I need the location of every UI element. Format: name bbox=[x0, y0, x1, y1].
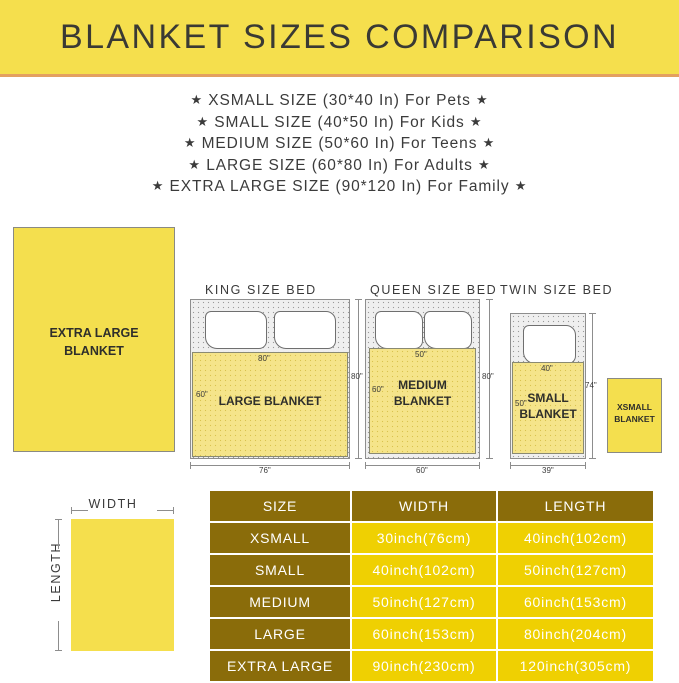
size-table: SIZE WIDTH LENGTH XSMALL 30inch(76cm) 40… bbox=[208, 489, 655, 683]
queen-bed-title: QUEEN SIZE BED bbox=[370, 283, 497, 297]
rule-tick bbox=[355, 299, 362, 300]
king-bed-height-label: 80" bbox=[351, 372, 363, 381]
table-row: XSMALL 30inch(76cm) 40inch(102cm) bbox=[210, 523, 653, 553]
medium-blanket-height-label: 60" bbox=[372, 385, 384, 394]
wl-length-label: LENGTH bbox=[49, 512, 63, 632]
pillow-icon bbox=[274, 311, 336, 349]
large-blanket-shape: LARGE BLANKET bbox=[192, 352, 348, 457]
cell-size: XSMALL bbox=[210, 523, 350, 553]
extra-large-blanket-label: EXTRA LARGE BLANKET bbox=[14, 324, 174, 360]
rule-tick bbox=[55, 519, 62, 520]
small-label-line2: BLANKET bbox=[519, 407, 576, 421]
medium-blanket-label: MEDIUM BLANKET bbox=[370, 377, 475, 409]
small-blanket-shape: SMALL BLANKET bbox=[512, 362, 584, 454]
twin-bed-height-label: 74" bbox=[585, 381, 597, 390]
rule-tick bbox=[349, 462, 350, 469]
table-row: SMALL 40inch(102cm) 50inch(127cm) bbox=[210, 555, 653, 585]
wl-length-rule-top bbox=[58, 519, 59, 549]
xl-label-line2: BLANKET bbox=[64, 344, 124, 358]
wl-rectangle-shape bbox=[71, 519, 174, 651]
queen-bed-height-label: 80" bbox=[482, 372, 494, 381]
king-bed-title: KING SIZE BED bbox=[205, 283, 317, 297]
twin-bed-title: TWIN SIZE BED bbox=[500, 283, 613, 297]
xsmall-blanket-label: XSMALL BLANKET bbox=[608, 401, 661, 425]
cell-length: 50inch(127cm) bbox=[498, 555, 653, 585]
xsmall-label-line2: BLANKET bbox=[614, 414, 655, 424]
rule-tick bbox=[589, 313, 596, 314]
rule-tick bbox=[479, 462, 480, 469]
cell-length: 60inch(153cm) bbox=[498, 587, 653, 617]
width-length-key: WIDTH LENGTH bbox=[38, 497, 188, 657]
column-header-width: WIDTH bbox=[352, 491, 496, 521]
cell-width: 40inch(102cm) bbox=[352, 555, 496, 585]
rule-tick bbox=[510, 462, 511, 469]
pillow-icon bbox=[205, 311, 267, 349]
extra-large-blanket-shape: EXTRA LARGE BLANKET bbox=[13, 227, 175, 452]
wl-width-rule-right bbox=[157, 510, 174, 511]
large-blanket-width-label: 80" bbox=[258, 354, 270, 363]
table-body: XSMALL 30inch(76cm) 40inch(102cm) SMALL … bbox=[210, 523, 653, 681]
rule-tick bbox=[173, 507, 174, 514]
rule-tick bbox=[190, 462, 191, 469]
xsmall-blanket-shape: XSMALL BLANKET bbox=[607, 378, 662, 453]
cell-length: 40inch(102cm) bbox=[498, 523, 653, 553]
medium-label-line1: MEDIUM bbox=[398, 378, 447, 392]
wl-width-label: WIDTH bbox=[38, 497, 188, 511]
cell-size: SMALL bbox=[210, 555, 350, 585]
small-label-line1: SMALL bbox=[527, 391, 568, 405]
rule-tick bbox=[585, 462, 586, 469]
rule-tick bbox=[486, 458, 493, 459]
twin-bed-width-label: 39" bbox=[542, 466, 554, 475]
medium-label-line2: BLANKET bbox=[394, 394, 451, 408]
queen-bed-width-label: 60" bbox=[416, 466, 428, 475]
table-row: MEDIUM 50inch(127cm) 60inch(153cm) bbox=[210, 587, 653, 617]
table-row: EXTRA LARGE 90inch(230cm) 120inch(305cm) bbox=[210, 651, 653, 681]
pillow-icon bbox=[523, 325, 576, 364]
table-head: SIZE WIDTH LENGTH bbox=[210, 491, 653, 521]
rule-tick bbox=[355, 458, 362, 459]
pillow-icon bbox=[375, 311, 423, 349]
xsmall-label-line1: XSMALL bbox=[617, 402, 652, 412]
medium-blanket-shape: MEDIUM BLANKET bbox=[369, 348, 476, 454]
rule-tick bbox=[486, 299, 493, 300]
cell-size: EXTRA LARGE bbox=[210, 651, 350, 681]
pillow-icon bbox=[424, 311, 472, 349]
column-header-length: LENGTH bbox=[498, 491, 653, 521]
table-row: LARGE 60inch(153cm) 80inch(204cm) bbox=[210, 619, 653, 649]
table-header-row: SIZE WIDTH LENGTH bbox=[210, 491, 653, 521]
small-blanket-height-label: 50" bbox=[515, 399, 527, 408]
large-blanket-label: LARGE BLANKET bbox=[193, 393, 347, 409]
cell-width: 50inch(127cm) bbox=[352, 587, 496, 617]
cell-length: 120inch(305cm) bbox=[498, 651, 653, 681]
cell-size: LARGE bbox=[210, 619, 350, 649]
small-blanket-width-label: 40" bbox=[541, 364, 553, 373]
rule-tick bbox=[365, 462, 366, 469]
cell-length: 80inch(204cm) bbox=[498, 619, 653, 649]
wl-width-rule-left bbox=[71, 510, 88, 511]
large-blanket-height-label: 60" bbox=[196, 390, 208, 399]
cell-width: 30inch(76cm) bbox=[352, 523, 496, 553]
medium-blanket-width-label: 50" bbox=[415, 350, 427, 359]
cell-size: MEDIUM bbox=[210, 587, 350, 617]
rule-tick bbox=[55, 650, 62, 651]
wl-length-rule-bottom bbox=[58, 621, 59, 651]
xl-label-line1: EXTRA LARGE bbox=[49, 326, 138, 340]
king-bed-width-label: 76" bbox=[259, 466, 271, 475]
cell-width: 90inch(230cm) bbox=[352, 651, 496, 681]
cell-width: 60inch(153cm) bbox=[352, 619, 496, 649]
rule-tick bbox=[71, 507, 72, 514]
rule-tick bbox=[589, 458, 596, 459]
column-header-size: SIZE bbox=[210, 491, 350, 521]
